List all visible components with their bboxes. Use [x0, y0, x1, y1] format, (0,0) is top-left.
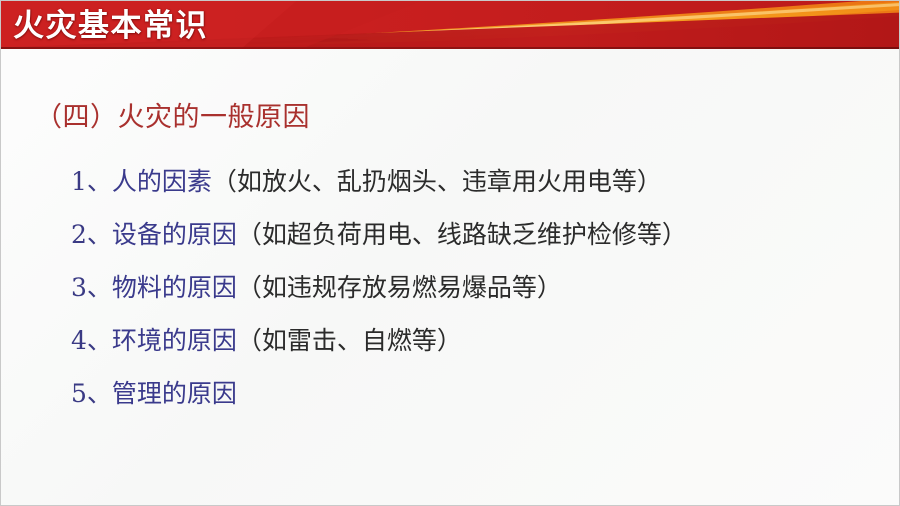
section-heading: （四）火灾的一般原因	[35, 101, 310, 135]
list-item: 1、人的因素（如放火、乱扔烟头、违章用火用电等）	[71, 155, 891, 208]
header-banner: 火灾基本常识	[1, 1, 900, 49]
list-item-note: （如违规存放易燃易爆品等）	[237, 273, 562, 302]
list-item-index: 5、	[71, 379, 112, 408]
page-title: 火灾基本常识	[13, 5, 208, 47]
cause-list: 1、人的因素（如放火、乱扔烟头、违章用火用电等） 2、设备的原因（如超负荷用电、…	[71, 155, 891, 420]
list-item-note: （如超负荷用电、线路缺乏维护检修等）	[237, 220, 687, 249]
list-item-title: 设备的原因	[112, 220, 237, 249]
list-item: 5、管理的原因	[71, 367, 891, 420]
list-item-note: （如雷击、自燃等）	[237, 326, 462, 355]
list-item: 4、环境的原因（如雷击、自燃等）	[71, 314, 891, 367]
list-item-note: （如放火、乱扔烟头、违章用火用电等）	[212, 167, 662, 196]
list-item-index: 4、	[71, 326, 112, 355]
slide: 火灾基本常识 （四）火灾的一般原因 1、人的因素（如放火、乱扔烟头、违章用火用电…	[0, 0, 900, 506]
list-item-index: 3、	[71, 273, 112, 302]
list-item-index: 1、	[71, 167, 112, 196]
list-item-title: 管理的原因	[112, 379, 237, 408]
list-item-title: 人的因素	[112, 167, 212, 196]
list-item-index: 2、	[71, 220, 112, 249]
list-item-title: 环境的原因	[112, 326, 237, 355]
list-item: 2、设备的原因（如超负荷用电、线路缺乏维护检修等）	[71, 208, 891, 261]
list-item: 3、物料的原因（如违规存放易燃易爆品等）	[71, 261, 891, 314]
list-item-title: 物料的原因	[112, 273, 237, 302]
slide-content: （四）火灾的一般原因 1、人的因素（如放火、乱扔烟头、违章用火用电等） 2、设备…	[1, 49, 900, 506]
